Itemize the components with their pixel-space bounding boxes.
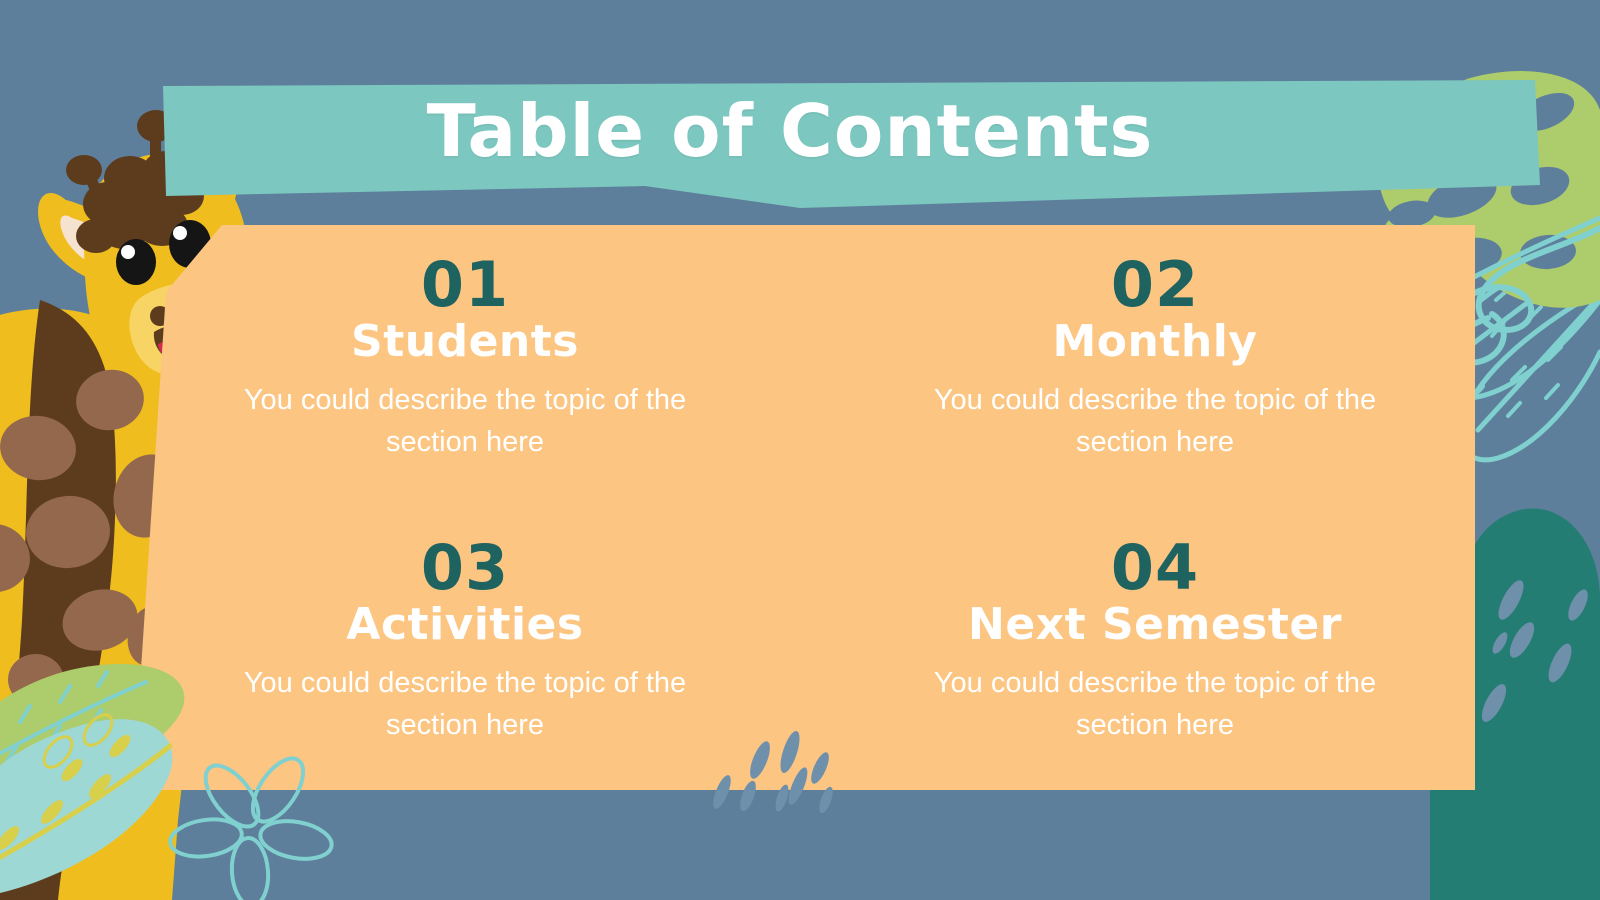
toc-item-01[interactable]: 01 Students You could describe the topic…	[175, 245, 755, 496]
toc-item-04[interactable]: 04 Next Semester You could describe the …	[865, 514, 1445, 765]
toc-description: You could describe the topic of the sect…	[215, 379, 715, 463]
toc-description: You could describe the topic of the sect…	[905, 379, 1405, 463]
toc-number: 02	[1111, 253, 1199, 316]
toc-description: You could describe the topic of the sect…	[905, 662, 1405, 746]
toc-title: Students	[351, 318, 579, 366]
toc-number: 03	[421, 536, 509, 599]
toc-item-03[interactable]: 03 Activities You could describe the top…	[175, 514, 755, 765]
toc-title: Activities	[346, 601, 583, 649]
toc-title: Monthly	[1053, 318, 1258, 366]
toc-description: You could describe the topic of the sect…	[215, 662, 715, 746]
slide-canvas: Table of Contents 01 Students You could …	[0, 0, 1600, 900]
toc-title: Next Semester	[968, 601, 1342, 649]
toc-number: 04	[1111, 536, 1199, 599]
toc-number: 01	[421, 253, 509, 316]
toc-grid: 01 Students You could describe the topic…	[175, 245, 1445, 765]
page-title: Table of Contents	[160, 95, 1420, 167]
toc-item-02[interactable]: 02 Monthly You could describe the topic …	[865, 245, 1445, 496]
